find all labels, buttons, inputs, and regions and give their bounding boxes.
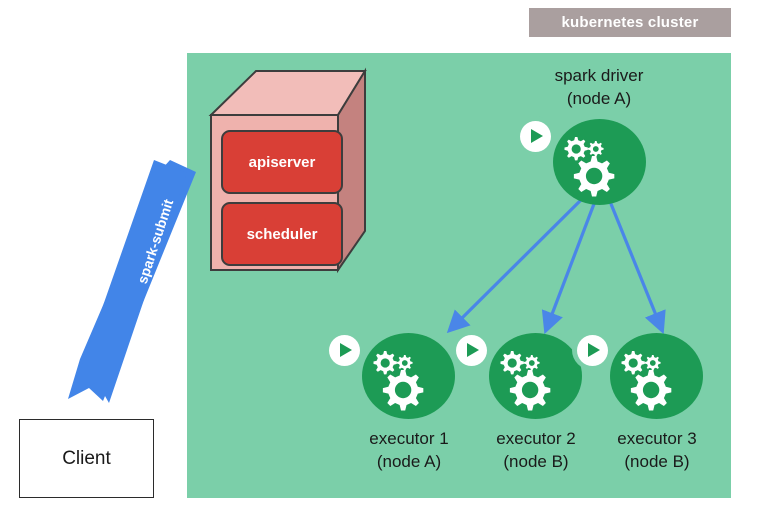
kubernetes-cluster-label: kubernetes cluster (562, 14, 699, 31)
play-icon (572, 330, 612, 370)
spark-driver-label: spark driver (node A) (519, 64, 679, 110)
cube-component-apiserver[interactable]: apiserver (221, 130, 343, 194)
apiserver-label: apiserver (249, 154, 316, 171)
client-box[interactable]: Client (19, 419, 154, 498)
kubernetes-cluster-badge: kubernetes cluster (529, 8, 731, 37)
scheduler-label: scheduler (247, 226, 318, 243)
executor-3-label: executor 3 (node B) (577, 427, 737, 473)
gears-icon (610, 333, 703, 419)
cube-component-scheduler[interactable]: scheduler (221, 202, 343, 266)
play-icon (515, 116, 555, 156)
gears-icon (489, 333, 582, 419)
gears-icon (553, 119, 646, 205)
play-icon (324, 330, 364, 370)
gears-icon (362, 333, 455, 419)
spark-submit-arrow-shape (55, 160, 215, 410)
client-label: Client (62, 448, 111, 470)
diagram-canvas: kubernetes cluster spark-submit apiserve… (0, 0, 761, 516)
play-icon (451, 330, 491, 370)
